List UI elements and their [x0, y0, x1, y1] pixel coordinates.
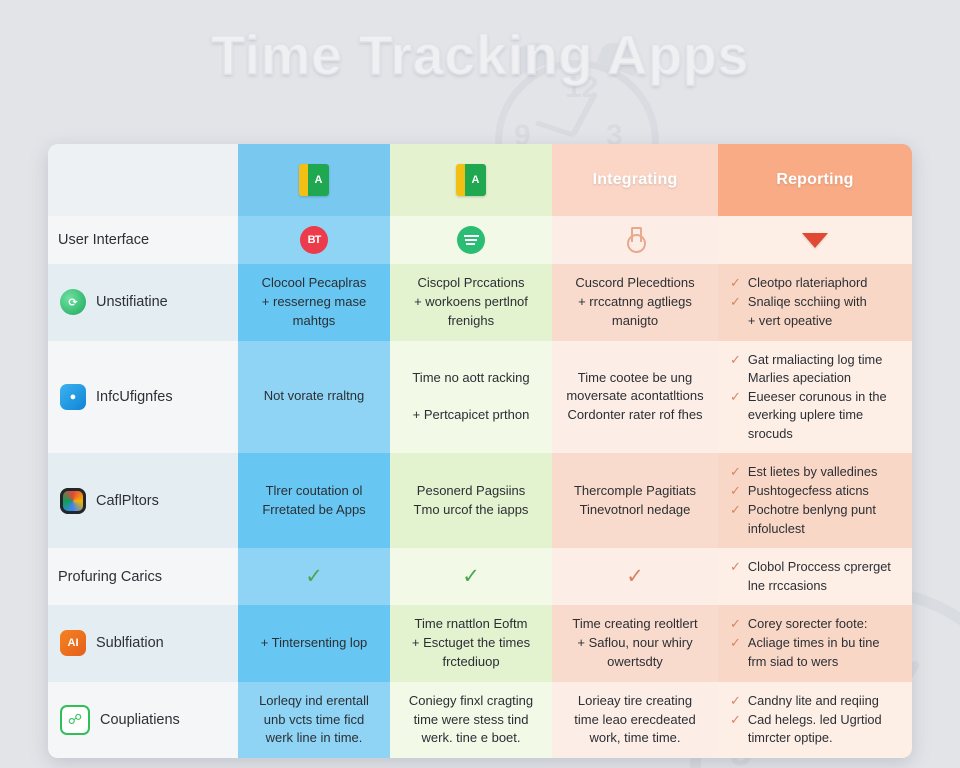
cell-text-line: Cordonter rater rof fhes [564, 406, 706, 425]
check-list-text: Pochotre benlyng puntinfoluclest [748, 501, 876, 538]
check-list-item: ✓Snaliqe scchiing with+ vert opeative [730, 293, 900, 330]
ai-orange-icon: AI [60, 630, 86, 656]
cell-r5-col1[interactable]: + Tintersenting lop [238, 605, 390, 682]
green-book-icon: A [456, 164, 486, 196]
check-list-item: ✓Pushtogecfess aticns [730, 482, 900, 501]
cell-text-line: Ciscpol Prccations [402, 274, 540, 293]
cell-text-line: werk. tine e boet. [402, 729, 540, 748]
cell-text-line: + Tintersenting lop [250, 634, 378, 653]
check-mark-icon: ✓ [250, 566, 378, 587]
cell-r2-col1[interactable]: Not vorate rraltng [238, 341, 390, 454]
check-list-item: ✓Cleotpo rlateriaphord [730, 274, 900, 293]
cell-r6-col1[interactable]: Lorleqy ind erentallunb vcts time ficdwe… [238, 682, 390, 759]
check-list-text: Cad helegs. led Ugrtiodtimrcter optipe. [748, 711, 882, 748]
cell-r3-col1[interactable]: Tlrer coutation olFrretated be Apps [238, 453, 390, 548]
row-label-6[interactable]: ☍Coupliatiens [48, 682, 238, 759]
cell-r4-reporting[interactable]: ✓Clobol Proccess cprergetlne rrccasions [718, 548, 912, 605]
cell-text-line: Coniegy finxl cragting [402, 692, 540, 711]
cell-text-line: + Pertcapicet prthon [402, 406, 540, 425]
cell-text-line: frenighs [402, 312, 540, 331]
cell-text-line: frctediuop [402, 653, 540, 672]
cell-text-line: Cuscord Plecedtions [564, 274, 706, 293]
cell-text-line: + resserneg mase [250, 293, 378, 312]
check-mark-icon: ✓ [564, 566, 706, 587]
cell-r1-reporting[interactable]: ✓Cleotpo rlateriaphord✓Snaliqe scchiing … [718, 264, 912, 341]
cell-text-line: Not vorate rraltng [250, 387, 378, 406]
cell-r2-col2[interactable]: Time no aott racking + Pertcapicet prtho… [390, 341, 552, 454]
cell-r3-reporting[interactable]: ✓Est lietes by valledines✓Pushtogecfess … [718, 453, 912, 548]
check-list-text: Candny lite and reqiing [748, 692, 879, 711]
check-mark-icon: ✓ [730, 558, 741, 577]
check-list-item: ✓Pochotre benlyng puntinfoluclest [730, 501, 900, 538]
cell-text-line: unb vcts time ficd [250, 711, 378, 730]
column-header-col2[interactable]: A [390, 144, 552, 216]
cell-text-line: Lorieay tire creating [564, 692, 706, 711]
cell-text-line: owertsdty [564, 653, 706, 672]
blue-bird-icon: ● [60, 384, 86, 410]
check-mark-icon: ✓ [730, 293, 741, 312]
column-header-feature[interactable] [48, 144, 238, 216]
check-mark-icon: ✓ [730, 501, 741, 520]
check-list-item: ✓Gat rmaliacting log timeMarlies apeciat… [730, 351, 900, 388]
cell-r3-integrating[interactable]: Thercomple PagitiatsTinevotnorl nedage [552, 453, 718, 548]
cell-text-line: werk line in time. [250, 729, 378, 748]
cell-text-line: + workoens pertlnof [402, 293, 540, 312]
check-mark-icon: ✓ [730, 482, 741, 501]
cell-r6-col2[interactable]: Coniegy finxl cragtingtime were stess ti… [390, 682, 552, 759]
column-header-label: Reporting [776, 171, 853, 189]
cell-text-line: + rrccatnng agtliegs [564, 293, 706, 312]
column-header-col1[interactable]: A [238, 144, 390, 216]
check-list-item: ✓Candny lite and reqiing [730, 692, 900, 711]
check-mark-icon: ✓ [730, 634, 741, 653]
cell-text-line: Tinevotnorl nedage [564, 501, 706, 520]
cell-text-line [402, 387, 540, 406]
row-label-4[interactable]: Profuring Carics [48, 548, 238, 605]
cell-text-line: time were stess tind [402, 711, 540, 730]
check-list-item: ✓Clobol Proccess cprergetlne rrccasions [730, 558, 900, 595]
cell-text-line: Time no aott racking [402, 369, 540, 388]
row-label-text: Sublfiation [96, 635, 164, 651]
cell-r0-col1[interactable]: BT [238, 216, 390, 264]
cell-r5-col2[interactable]: Time rnattlon Eoftm+ Esctuget the timesf… [390, 605, 552, 682]
page-title: Time Tracking Apps [0, 22, 960, 87]
cell-text-line: mahtgs [250, 312, 378, 331]
check-list-text: Est lietes by valledines [748, 463, 877, 482]
cell-text-line: Lorleqy ind erentall [250, 692, 378, 711]
cell-r4-col1[interactable]: ✓ [238, 548, 390, 605]
green-signal-circle-icon [457, 226, 485, 254]
check-mark-icon: ✓ [730, 388, 741, 407]
check-list-item: ✓Acliage times in bu tinefrm siad to wer… [730, 634, 900, 671]
cell-r3-col2[interactable]: Pesonerd PagsiinsTmo urcof the iapps [390, 453, 552, 548]
cell-r2-integrating[interactable]: Time cootee be ungmoversate acontatltion… [552, 341, 718, 454]
check-list-text: Acliage times in bu tinefrm siad to wers [748, 634, 880, 671]
check-list-item: ✓Corey sorecter foote: [730, 615, 900, 634]
red-circle-badge-icon: BT [300, 226, 328, 254]
cell-r0-reporting[interactable] [718, 216, 912, 264]
cell-text-line: + Saflou, nour whiry [564, 634, 706, 653]
cell-text-line: Time cootee be ung [564, 369, 706, 388]
cell-r5-integrating[interactable]: Time creating reoltlert+ Saflou, nour wh… [552, 605, 718, 682]
check-mark-icon: ✓ [730, 711, 741, 730]
cell-text-line: + Esctuget the times [402, 634, 540, 653]
check-list-text: Snaliqe scchiing with+ vert opeative [748, 293, 867, 330]
row-label-0[interactable]: User Interface [48, 216, 238, 264]
red-triangle-down-icon [802, 233, 828, 248]
cell-r2-reporting[interactable]: ✓Gat rmaliacting log timeMarlies apeciat… [718, 341, 912, 454]
cell-r6-integrating[interactable]: Lorieay tire creatingtime leao erecdeate… [552, 682, 718, 759]
row-label-text: InfcUfignfes [96, 389, 173, 405]
check-list-item: ✓Est lietes by valledines [730, 463, 900, 482]
row-label-2[interactable]: ●InfcUfignfes [48, 341, 238, 454]
row-label-5[interactable]: AISublfiation [48, 605, 238, 682]
cell-text-line: time leao erecdeated [564, 711, 706, 730]
cell-text-line: Frretated be Apps [250, 501, 378, 520]
cell-text-line: Pesonerd Pagsiins [402, 482, 540, 501]
check-list-item: ✓Eueeser corunous in theeverking uplere … [730, 388, 900, 444]
row-label-1[interactable]: ⟳Unstifiatine [48, 264, 238, 341]
green-book-icon: A [299, 164, 329, 196]
cell-r1-col2[interactable]: Ciscpol Prccations+ workoens pertlnoffre… [390, 264, 552, 341]
multicolor-app-icon [60, 488, 86, 514]
comparison-table: AAIntegratingReportingUser InterfaceBT⟳U… [48, 144, 912, 758]
cell-text-line: Thercomple Pagitiats [564, 482, 706, 501]
cell-text-line: Tmo urcof the iapps [402, 501, 540, 520]
cell-r0-col2[interactable] [390, 216, 552, 264]
chat-green-icon: ☍ [60, 705, 90, 735]
row-label-3[interactable]: CaflPltors [48, 453, 238, 548]
check-mark-icon: ✓ [730, 692, 741, 711]
row-label-text: Profuring Carics [58, 569, 162, 585]
check-mark-icon: ✓ [730, 463, 741, 482]
check-list-item: ✓Cad helegs. led Ugrtiodtimrcter optipe. [730, 711, 900, 748]
check-mark-icon: ✓ [730, 615, 741, 634]
lightbulb-outline-icon [627, 227, 643, 253]
cell-text-line: Clocool Pecaplras [250, 274, 378, 293]
cell-r4-col2[interactable]: ✓ [390, 548, 552, 605]
recycle-green-icon: ⟳ [60, 289, 86, 315]
column-header-reporting[interactable]: Reporting [718, 144, 912, 216]
row-label-text: CaflPltors [96, 493, 159, 509]
cell-r1-integrating[interactable]: Cuscord Plecedtions+ rrccatnng agtliegsm… [552, 264, 718, 341]
row-label-text: User Interface [58, 232, 149, 248]
cell-r6-reporting[interactable]: ✓Candny lite and reqiing✓Cad helegs. led… [718, 682, 912, 759]
cell-text-line: Tlrer coutation ol [250, 482, 378, 501]
check-mark-icon: ✓ [402, 566, 540, 587]
check-list-text: Corey sorecter foote: [748, 615, 868, 634]
check-mark-icon: ✓ [730, 274, 741, 293]
row-label-text: Unstifiatine [96, 294, 168, 310]
check-mark-icon: ✓ [730, 351, 741, 370]
cell-r0-integrating[interactable] [552, 216, 718, 264]
check-list-text: Pushtogecfess aticns [748, 482, 869, 501]
cell-text-line: moversate acontatltions [564, 387, 706, 406]
column-header-integrating[interactable]: Integrating [552, 144, 718, 216]
cell-r4-integrating[interactable]: ✓ [552, 548, 718, 605]
cell-text-line: work, time time. [564, 729, 706, 748]
cell-text-line: Time creating reoltlert [564, 615, 706, 634]
cell-text-line: manigto [564, 312, 706, 331]
check-list-text: Cleotpo rlateriaphord [748, 274, 868, 293]
cell-r1-col1[interactable]: Clocool Pecaplras+ resserneg masemahtgs [238, 264, 390, 341]
row-label-text: Coupliatiens [100, 712, 180, 728]
cell-r5-reporting[interactable]: ✓Corey sorecter foote:✓Acliage times in … [718, 605, 912, 682]
column-header-label: Integrating [593, 171, 678, 189]
check-list-text: Gat rmaliacting log timeMarlies apeciati… [748, 351, 882, 388]
cell-text-line: Time rnattlon Eoftm [402, 615, 540, 634]
check-list-text: Clobol Proccess cprergetlne rrccasions [748, 558, 891, 595]
check-list-text: Eueeser corunous in theeverking uplere t… [748, 388, 887, 444]
